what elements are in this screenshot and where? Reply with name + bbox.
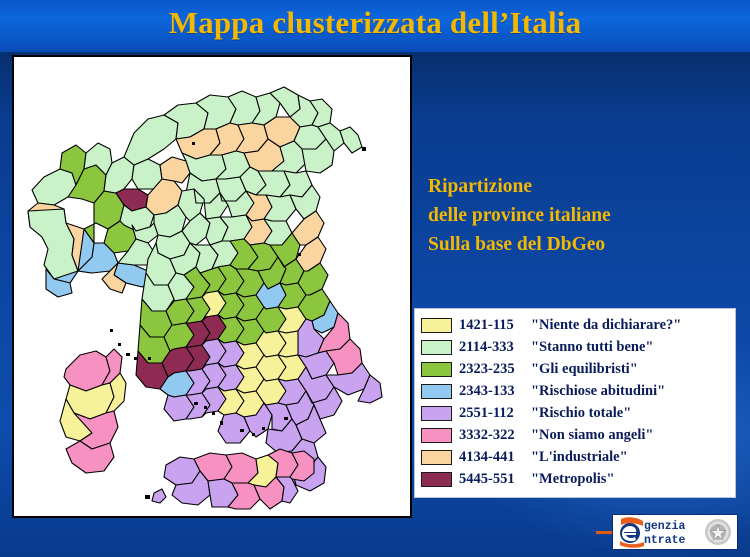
legend-row: 2114-333 "Stanno tutti bene" xyxy=(421,336,729,358)
page-title: Mappa clusterizzata dell’Italia xyxy=(0,5,750,41)
legend-row: 2343-133 "Rischiose abitudini" xyxy=(421,380,729,402)
legend-label: "Metropolis" xyxy=(531,471,615,488)
legend-code: 5445-551 xyxy=(459,471,531,488)
side-text-line-1: Ripartizione xyxy=(428,172,728,201)
legend-swatch xyxy=(421,340,452,355)
legend-code: 2343-133 xyxy=(459,383,531,400)
legend-label: "Rischio totale" xyxy=(531,405,631,422)
slide-root: Mappa clusterizzata dell’Italia xyxy=(0,0,750,557)
legend-row: 1421-115 "Niente da dichiarare?" xyxy=(421,314,729,336)
legend-label: "Niente da dichiarare?" xyxy=(531,317,681,334)
legend-row: 4134-441 "L'industriale" xyxy=(421,446,729,468)
legend-code: 1421-115 xyxy=(459,317,531,334)
legend-label: "Non siamo angeli" xyxy=(531,427,653,444)
side-text-line-2: delle province italiane xyxy=(428,201,728,230)
legend-row: 2551-112 "Rischio totale" xyxy=(421,402,729,424)
side-text-line-3: Sulla base del DbGeo xyxy=(428,230,728,259)
legend-swatch xyxy=(421,362,452,377)
legend-swatch xyxy=(421,428,452,443)
legend-row: 2323-235 "Gli equilibristi" xyxy=(421,358,729,380)
republic-emblem-icon xyxy=(705,519,731,545)
legend-swatch xyxy=(421,318,452,333)
logo-dash xyxy=(596,531,612,534)
legend-swatch xyxy=(421,406,452,421)
italy-choropleth-map xyxy=(14,57,410,516)
legend-swatch xyxy=(421,384,452,399)
logo-word-top: genzia xyxy=(644,520,686,533)
legend-label: "Rischiose abitudini" xyxy=(531,383,665,400)
legend-row: 3332-322 "Non siamo angeli" xyxy=(421,424,729,446)
legend-swatch xyxy=(421,472,452,487)
legend-code: 2323-235 xyxy=(459,361,531,378)
legend-row: 5445-551 "Metropolis" xyxy=(421,468,729,490)
side-description: Ripartizione delle province italiane Sul… xyxy=(428,172,728,259)
legend-label: "L'industriale" xyxy=(531,449,628,466)
legend-label: "Stanno tutti bene" xyxy=(531,339,653,356)
map-panel xyxy=(12,55,412,518)
legend-code: 4134-441 xyxy=(459,449,531,466)
logo-graphic: genzia ntrate xyxy=(613,515,737,549)
map-legend: 1421-115 "Niente da dichiarare?" 2114-33… xyxy=(414,308,736,498)
legend-code: 3332-322 xyxy=(459,427,531,444)
agenzia-entrate-logo: genzia ntrate xyxy=(612,514,738,550)
logo-word-bottom: ntrate xyxy=(644,534,686,547)
legend-swatch xyxy=(421,450,452,465)
legend-code: 2551-112 xyxy=(459,405,531,422)
legend-label: "Gli equilibristi" xyxy=(531,361,638,378)
legend-code: 2114-333 xyxy=(459,339,531,356)
